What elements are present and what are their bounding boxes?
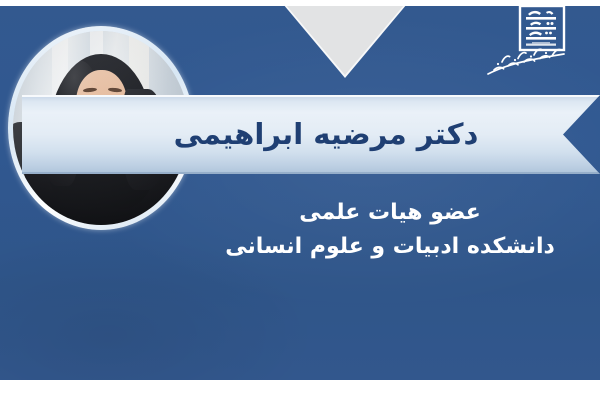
- name-ribbon: دکتر مرضیه ابراهیمی: [22, 95, 600, 174]
- subtitle-role: عضو هیات علمی: [190, 198, 590, 228]
- page-title: دکتر مرضیه ابراهیمی: [22, 95, 600, 174]
- subtitle-block: عضو هیات علمی دانشکده ادبیات و علوم انسا…: [190, 198, 590, 261]
- subtitle-faculty: دانشکده ادبیات و علوم انسانی: [190, 232, 590, 262]
- faculty-profile-card: دکتر مرضیه ابراهیمی عضو هیات علمی دانشکد…: [0, 0, 600, 400]
- university-seal-icon: [482, 2, 592, 86]
- bottom-white-strip: [0, 380, 600, 400]
